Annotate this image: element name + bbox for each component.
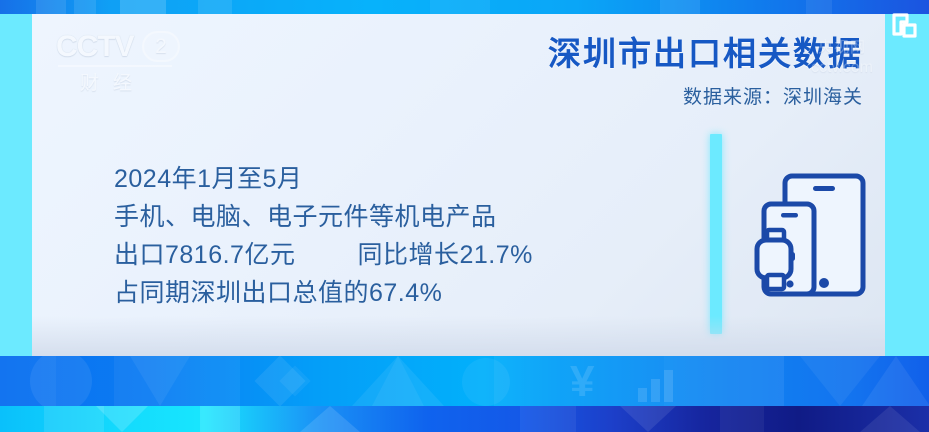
left-accent-bar <box>0 14 32 356</box>
body-line-period: 2024年1月至5月 <box>114 160 684 198</box>
page-title: 深圳市出口相关数据 <box>548 32 863 76</box>
tablet-phone-watch-icon <box>750 172 885 320</box>
cctv-channel-logo: CCTV 2 财经 <box>56 30 184 92</box>
growth-text: 同比增长21.7% <box>357 241 532 269</box>
triangle-motif-3 <box>130 356 190 406</box>
triangle-motif-5 <box>862 356 929 406</box>
body-line-stats: 出口7816.7亿元同比增长21.7% <box>114 236 684 274</box>
yen-symbol-motif: ¥ <box>570 360 594 404</box>
cctv-logo-subtitle: 财经 <box>80 68 180 95</box>
main-panel: CCTV 2 财经 深圳市出口相关数据 数据来源：深圳海关 央视网 cctv.c… <box>32 14 885 356</box>
data-source-label: 数据来源：深圳海关 <box>548 82 863 109</box>
vertical-divider <box>710 134 722 334</box>
bottom-sub-band <box>0 406 929 432</box>
cctv-logo-text: CCTV <box>56 30 134 64</box>
export-value-text: 出口7816.7亿元 <box>114 241 295 269</box>
cctv-logo-rule <box>58 65 172 67</box>
bottom-decorative-band: ¥ <box>0 356 929 432</box>
body-line-share: 占同期深圳出口总值的67.4% <box>114 274 684 312</box>
top-accent-strip <box>0 0 929 14</box>
cctv-channel-number: 2 <box>142 31 180 62</box>
right-accent-bar <box>885 14 929 356</box>
title-block: 深圳市出口相关数据 数据来源：深圳海关 <box>548 32 863 109</box>
devices-corner-icon <box>890 12 920 40</box>
bar-chart-icon <box>636 368 678 402</box>
body-text-block: 2024年1月至5月 手机、电脑、电子元件等机电产品 出口7816.7亿元同比增… <box>114 160 684 312</box>
triangle-motif-2 <box>372 356 424 406</box>
body-line-category: 手机、电脑、电子元件等机电产品 <box>114 198 684 236</box>
